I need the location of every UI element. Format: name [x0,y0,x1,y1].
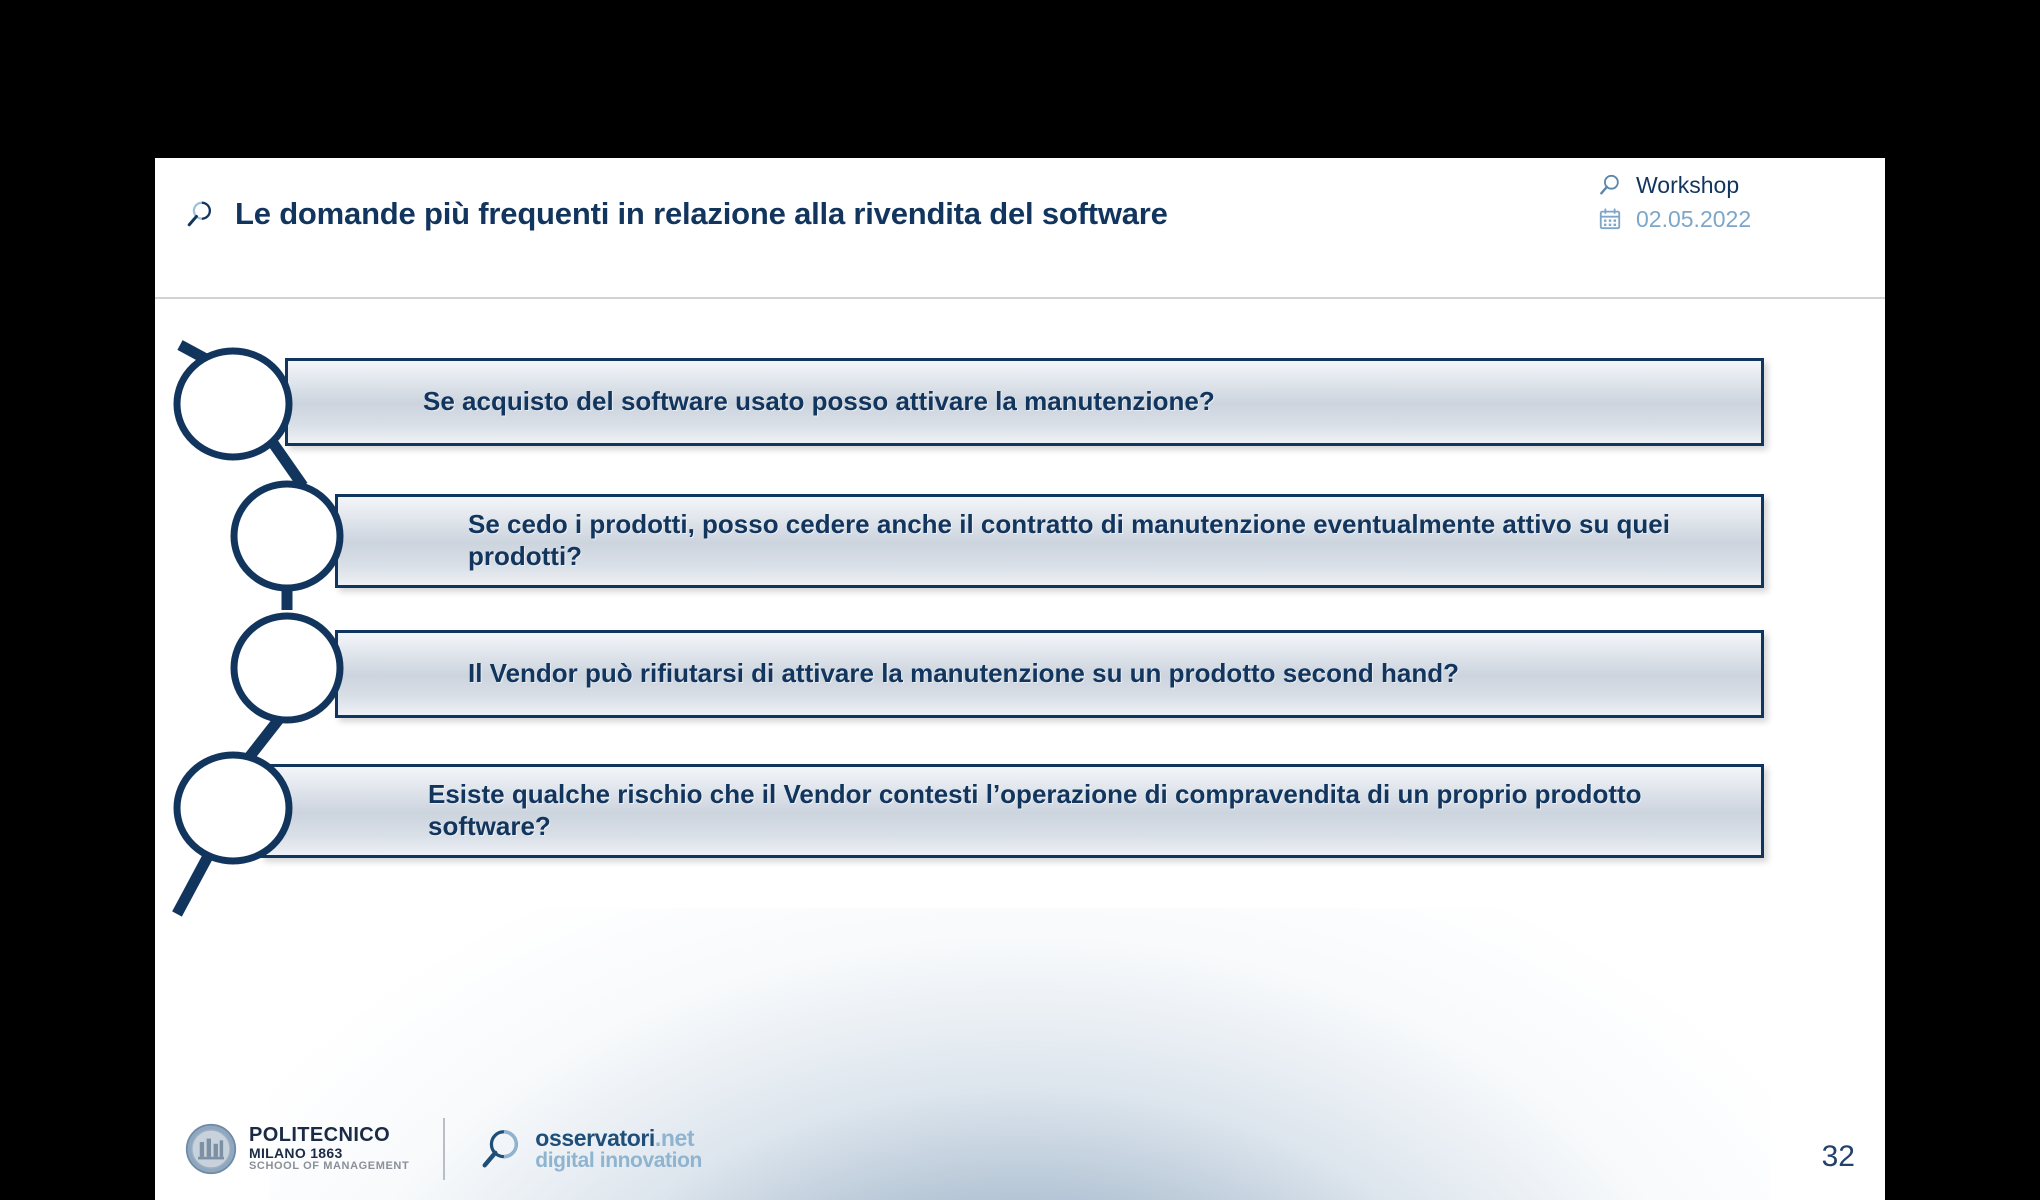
politecnico-line-3: SCHOOL OF MANAGEMENT [249,1161,409,1173]
osservatori-name: osservatori [535,1125,655,1151]
magnifier-icon [1598,173,1622,197]
magnifier-icon [185,199,215,229]
osservatori-tld: .net [655,1125,694,1151]
title-row: Le domande più frequenti in relazione al… [185,196,1168,232]
politecnico-wordmark: POLITECNICO MILANO 1863 SCHOOL OF MANAGE… [249,1125,409,1174]
chain-link-start [180,345,217,365]
politecnico-line-2: MILANO 1863 [249,1146,409,1161]
question-text: Esiste qualche rischio che il Vendor con… [428,779,1737,842]
osservatori-wordmark: osservatori.net digital innovation [535,1127,702,1171]
slide-meta: Workshop 02.05.2022 [1598,168,1858,236]
meta-date-row: 02.05.2022 [1598,202,1858,236]
page-number: 32 [1822,1140,1855,1174]
event-type-label: Workshop [1636,172,1739,199]
osservatori-tagline: digital innovation [535,1150,702,1171]
politecnico-line-1: POLITECNICO [249,1125,409,1147]
chain-circle-2 [234,484,340,588]
osservatori-name-line: osservatori.net [535,1127,702,1150]
questions-chain-diagram: Se acquisto del software usato posso att… [155,308,1885,1008]
politecnico-seal-icon [185,1123,237,1175]
question-box-4[interactable]: Esiste qualche rischio che il Vendor con… [260,764,1764,858]
question-box-2[interactable]: Se cedo i prodotti, posso cedere anche i… [335,494,1764,588]
meta-event-row: Workshop [1598,168,1858,202]
question-box-3[interactable]: Il Vendor può rifiutarsi di attivare la … [335,630,1764,718]
question-box-1[interactable]: Se acquisto del software usato posso att… [285,358,1764,446]
question-text: Se cedo i prodotti, posso cedere anche i… [468,509,1737,572]
question-text: Se acquisto del software usato posso att… [423,386,1215,418]
page-title: Le domande più frequenti in relazione al… [235,196,1168,232]
chain-circle-1 [177,351,289,457]
event-date-label: 02.05.2022 [1636,206,1751,233]
chain-link-end [177,858,207,914]
screenshot-frame: Le domande più frequenti in relazione al… [0,0,2040,1200]
calendar-icon [1598,207,1622,231]
osservatori-logo: osservatori.net digital innovation [479,1127,702,1171]
slide-footer: POLITECNICO MILANO 1863 SCHOOL OF MANAGE… [155,1110,1885,1188]
slide-header: Le domande più frequenti in relazione al… [155,158,1885,298]
magnifier-icon [479,1127,523,1171]
chain-link-3-4 [247,714,283,760]
logo-divider [443,1118,445,1180]
politecnico-logo: POLITECNICO MILANO 1863 SCHOOL OF MANAGE… [185,1123,409,1175]
slide-canvas: Le domande più frequenti in relazione al… [155,158,1885,1200]
question-text: Il Vendor può rifiutarsi di attivare la … [468,658,1459,690]
chain-circle-3 [234,616,340,720]
footer-logos: POLITECNICO MILANO 1863 SCHOOL OF MANAGE… [185,1110,702,1188]
chain-link-1-2 [273,443,303,486]
header-divider [155,297,1885,299]
